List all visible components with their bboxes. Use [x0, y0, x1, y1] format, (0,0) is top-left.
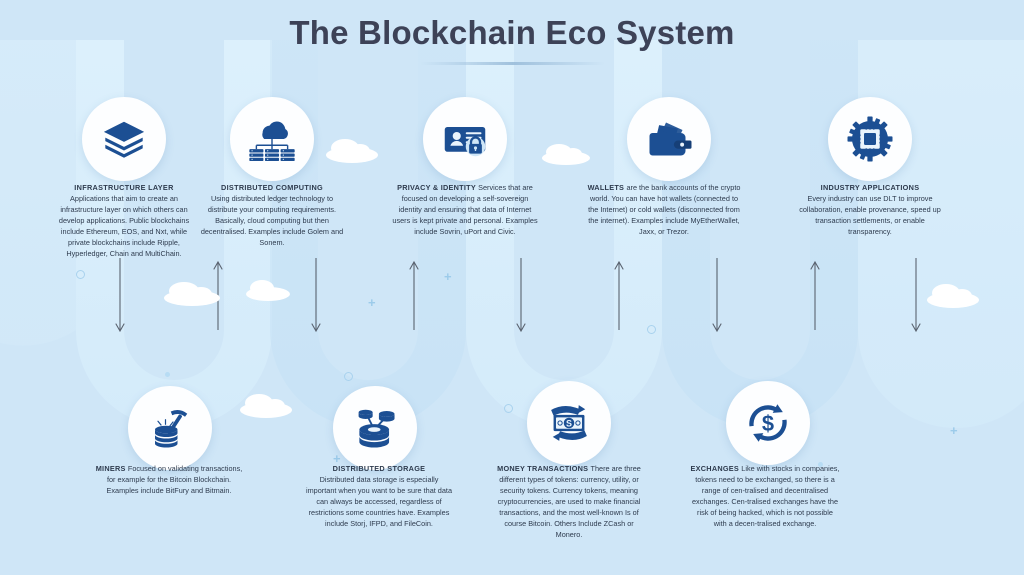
- database-nodes-icon: [350, 403, 400, 453]
- money-transactions-body: There are three different types of token…: [498, 464, 641, 539]
- distributed-storage-badge[interactable]: [333, 386, 417, 470]
- industry-applications-heading: INDUSTRY APPLICATIONS: [796, 182, 944, 193]
- cloud-servers-icon: [247, 114, 297, 164]
- gear-chip-icon: [846, 115, 894, 163]
- distributed-storage-heading: DISTRIBUTED STORAGE: [305, 463, 453, 474]
- wallets-heading: WALLETS: [588, 183, 627, 192]
- cloud-icon: [542, 144, 590, 165]
- svg-text:$: $: [762, 411, 774, 436]
- privacy-identity-badge[interactable]: [423, 97, 507, 181]
- distributed-computing-badge[interactable]: [230, 97, 314, 181]
- industry-applications-badge[interactable]: [828, 97, 912, 181]
- decorative-dot: [165, 372, 170, 377]
- decorative-ring: [504, 404, 513, 413]
- decorative-plus: +: [368, 296, 376, 309]
- page-title: The Blockchain Eco System: [0, 14, 1024, 52]
- decorative-ring: [647, 325, 656, 334]
- title-divider: [420, 62, 605, 65]
- decorative-plus: +: [950, 424, 958, 437]
- banknote-exchange-icon: S: [543, 397, 595, 449]
- money-transactions-heading: MONEY TRANSACTIONS: [497, 464, 590, 473]
- industry-applications-text: INDUSTRY APPLICATIONS Every industry can…: [796, 182, 944, 237]
- infrastructure-layer-heading: INFRASTRUCTURE LAYER: [50, 182, 198, 193]
- cloud-icon: [326, 139, 378, 163]
- pickaxe-coins-icon: [146, 404, 194, 452]
- privacy-identity-heading: PRIVACY & IDENTITY: [397, 183, 478, 192]
- stacked-layers-icon: [101, 116, 147, 162]
- decorative-ring: [76, 270, 85, 279]
- distributed-storage-body: Distributed data storage is especially i…: [306, 475, 452, 528]
- miners-badge[interactable]: [128, 386, 212, 470]
- svg-text:S: S: [566, 419, 572, 429]
- arrow-up-2: [410, 262, 418, 330]
- money-transactions-badge[interactable]: S: [527, 381, 611, 465]
- miners-text: MINERS Focused on validating transaction…: [95, 463, 243, 496]
- exchanges-body: Like with stocks in companies, tokens ne…: [692, 464, 839, 528]
- exchanges-badge[interactable]: $: [726, 381, 810, 465]
- circular-arrows-dollar-icon: $: [743, 398, 793, 448]
- money-transactions-text: MONEY TRANSACTIONS There are three diffe…: [495, 463, 643, 541]
- distributed-storage-text: DISTRIBUTED STORAGE Distributed data sto…: [305, 463, 453, 529]
- infrastructure-layer-badge[interactable]: [82, 97, 166, 181]
- infographic-canvas: + + + + + The Blockchain Eco System INFR…: [0, 0, 1024, 575]
- miners-body: Focused on validating transactions, for …: [107, 464, 243, 495]
- privacy-identity-text: PRIVACY & IDENTITY Services that are foc…: [391, 182, 539, 237]
- infrastructure-layer-body: Applications that aim to create an infra…: [59, 194, 189, 258]
- miners-heading: MINERS: [96, 464, 128, 473]
- wallet-icon: [645, 115, 693, 163]
- industry-applications-body: Every industry can use DLT to improve co…: [799, 194, 941, 236]
- decorative-plus: +: [444, 270, 452, 283]
- infrastructure-layer-text: INFRASTRUCTURE LAYER Applications that a…: [50, 182, 198, 260]
- cloud-icon: [240, 394, 292, 418]
- page-title-block: The Blockchain Eco System: [0, 14, 1024, 65]
- arrow-down-3: [517, 258, 525, 331]
- arrow-down-4: [713, 258, 721, 331]
- exchanges-text: EXCHANGES Like with stocks in companies,…: [690, 463, 840, 529]
- wallets-badge[interactable]: [627, 97, 711, 181]
- wallets-text: WALLETS are the bank accounts of the cry…: [585, 182, 743, 237]
- id-card-lock-icon: [441, 115, 489, 163]
- distributed-computing-body: Using distributed ledger technology to d…: [201, 194, 343, 247]
- cloud-icon: [164, 282, 220, 306]
- decorative-ring: [344, 372, 353, 381]
- distributed-computing-heading: DISTRIBUTED COMPUTING: [198, 182, 346, 193]
- distributed-computing-text: DISTRIBUTED COMPUTING Using distributed …: [198, 182, 346, 248]
- exchanges-heading: EXCHANGES: [691, 464, 742, 473]
